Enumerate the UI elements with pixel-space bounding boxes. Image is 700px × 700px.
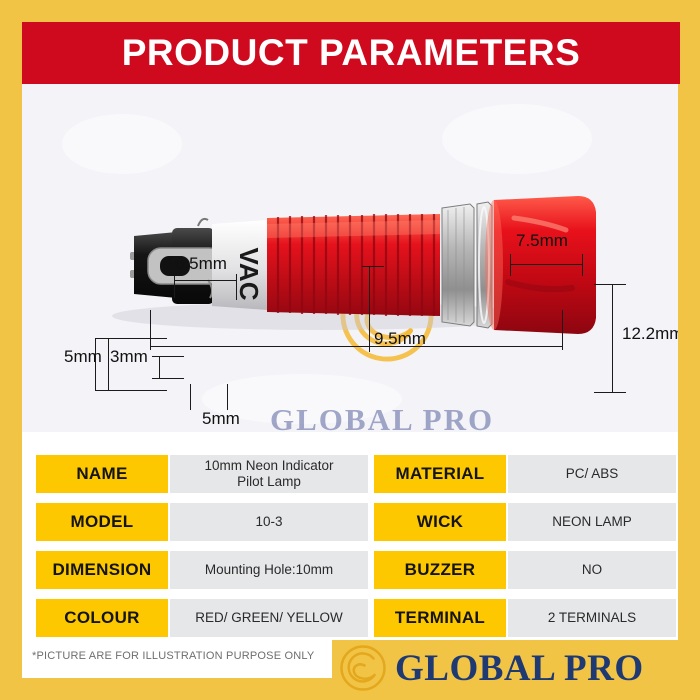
spec-value-colour: RED/ GREEN/ YELLOW: [170, 599, 368, 637]
dim-6-5mm: 6.5mm: [175, 254, 227, 274]
dim-line: [95, 338, 96, 390]
dim-tick: [362, 266, 384, 267]
dim-5mm-width: 5mm: [202, 409, 240, 429]
spec-value-model: 10-3: [170, 503, 368, 541]
dim-tick: [594, 284, 626, 285]
spec-label-wick: WICK: [374, 503, 506, 541]
brand-lockup: GLOBAL PRO: [338, 643, 644, 693]
dim-line: [108, 338, 109, 390]
dim-3mm-height: 3mm: [110, 347, 148, 367]
disclaimer-text: *PICTURE ARE FOR ILLUSTRATION PURPOSE ON…: [32, 650, 314, 662]
dim-line: [159, 356, 160, 378]
dim-line: [369, 266, 370, 352]
dim-tick: [152, 378, 184, 379]
spec-value-name: 10mm Neon Indicator Pilot Lamp: [170, 455, 368, 493]
dim-tick: [236, 274, 237, 300]
header-banner: PRODUCT PARAMETERS: [22, 22, 680, 84]
dim-5mm-height: 5mm: [64, 347, 102, 367]
dim-tick: [582, 254, 583, 276]
svg-text:VAC: VAC: [234, 248, 264, 301]
spec-label-dimension: DIMENSION: [36, 551, 168, 589]
page-title: PRODUCT PARAMETERS: [122, 32, 581, 74]
global-pro-g-icon: [338, 643, 388, 693]
spec-label-terminal: TERMINAL: [374, 599, 506, 637]
outer-yellow-frame: PRODUCT PARAMETERS GLOBAL PRO: [0, 0, 700, 700]
dim-line: [510, 264, 582, 265]
spec-value-buzzer: NO: [508, 551, 676, 589]
spec-label-colour: COLOUR: [36, 599, 168, 637]
spec-label-material: MATERIAL: [374, 455, 506, 493]
spec-value-dimension: Mounting Hole:10mm: [170, 551, 368, 589]
spec-value-wick: NEON LAMP: [508, 503, 676, 541]
dim-tick: [95, 390, 167, 391]
spec-label-model: MODEL: [36, 503, 168, 541]
spec-value-terminal: 2 TERMINALS: [508, 599, 676, 637]
brand-name: GLOBAL PRO: [395, 647, 644, 690]
spec-label-name: NAME: [36, 455, 168, 493]
table-row: MODEL 10-3 WICK NEON LAMP: [22, 503, 678, 541]
table-row: COLOUR RED/ GREEN/ YELLOW TERMINAL 2 TER…: [22, 599, 678, 637]
footer: *PICTURE ARE FOR ILLUSTRATION PURPOSE ON…: [0, 640, 700, 700]
product-photo: GLOBAL PRO: [22, 84, 678, 432]
table-row: DIMENSION Mounting Hole:10mm BUZZER NO: [22, 551, 678, 589]
dim-12-2mm: 12.2mm: [622, 324, 678, 344]
dim-line: [612, 284, 613, 392]
spec-label-buzzer: BUZZER: [374, 551, 506, 589]
dim-tick: [594, 392, 626, 393]
dim-line: [150, 346, 562, 347]
spec-value-material: PC/ ABS: [508, 455, 676, 493]
dim-line: [174, 280, 236, 281]
dim-tick: [562, 310, 563, 350]
spec-table: NAME 10mm Neon Indicator Pilot Lamp MATE…: [22, 432, 678, 632]
lamp-illustration: VAC: [22, 84, 678, 432]
dim-tick: [227, 384, 228, 410]
spec-value-name-text: 10mm Neon Indicator Pilot Lamp: [204, 458, 333, 489]
dim-7-5mm: 7.5mm: [516, 231, 568, 251]
table-row: NAME 10mm Neon Indicator Pilot Lamp MATE…: [22, 455, 678, 493]
dim-tick: [150, 310, 151, 350]
dim-tick: [190, 384, 191, 410]
dim-tick: [510, 254, 511, 276]
dim-tick: [95, 338, 167, 339]
dim-tick: [152, 356, 184, 357]
